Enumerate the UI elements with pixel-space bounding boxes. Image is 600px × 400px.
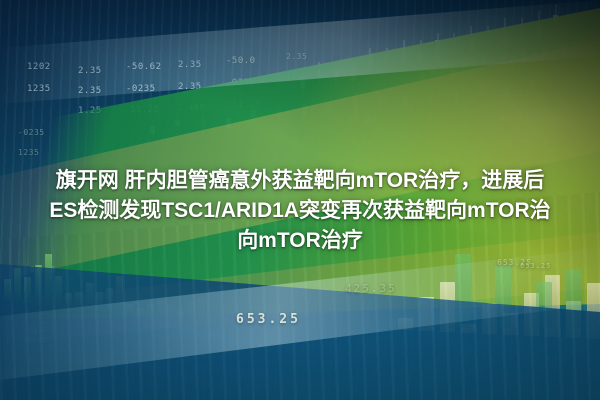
banner-image: 120212352.352.351.25-50.62-0235-11.252.3…	[0, 0, 600, 400]
highlight-number: 653.25	[520, 262, 551, 270]
highlight-number: 425.35	[345, 282, 397, 295]
highlight-number: 653.25	[236, 312, 301, 327]
highlight-numbers: 653.25425.35653.25653.25	[0, 0, 600, 400]
